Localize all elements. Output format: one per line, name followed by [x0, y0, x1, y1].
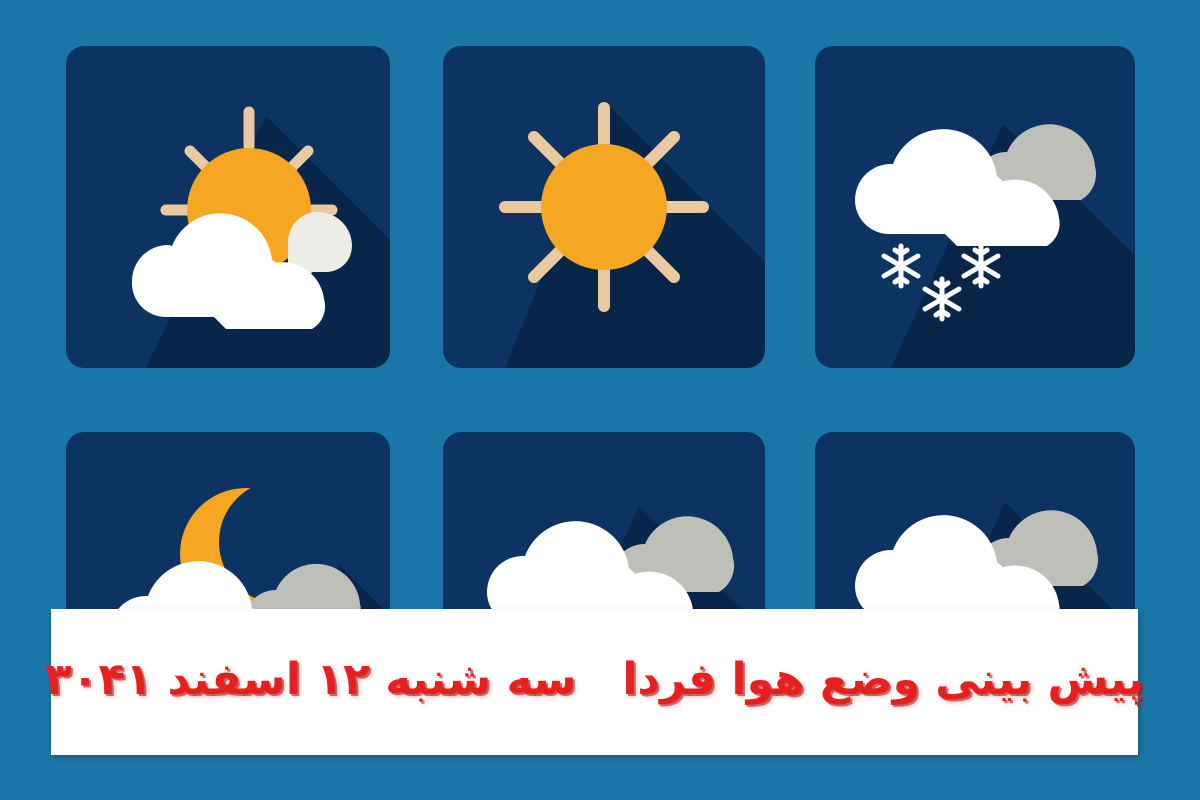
weather-forecast-banner: پیش بینی وضع هوا فردا سه شنبه ۲۱ اسفند ۱… — [0, 0, 1200, 800]
weather-tile-snow[interactable] — [815, 46, 1135, 368]
partly-cloudy-day-icon — [66, 46, 390, 368]
forecast-headline: پیش بینی وضع هوا فردا سه شنبه ۲۱ اسفند ۱… — [45, 656, 1144, 708]
snow-icon — [815, 46, 1135, 368]
sunny-icon — [443, 46, 765, 368]
weather-tile-partly-cloudy-day[interactable] — [66, 46, 390, 368]
weather-tile-sunny[interactable] — [443, 46, 765, 368]
caption-banner: پیش بینی وضع هوا فردا سه شنبه ۲۱ اسفند ۱… — [51, 609, 1138, 755]
